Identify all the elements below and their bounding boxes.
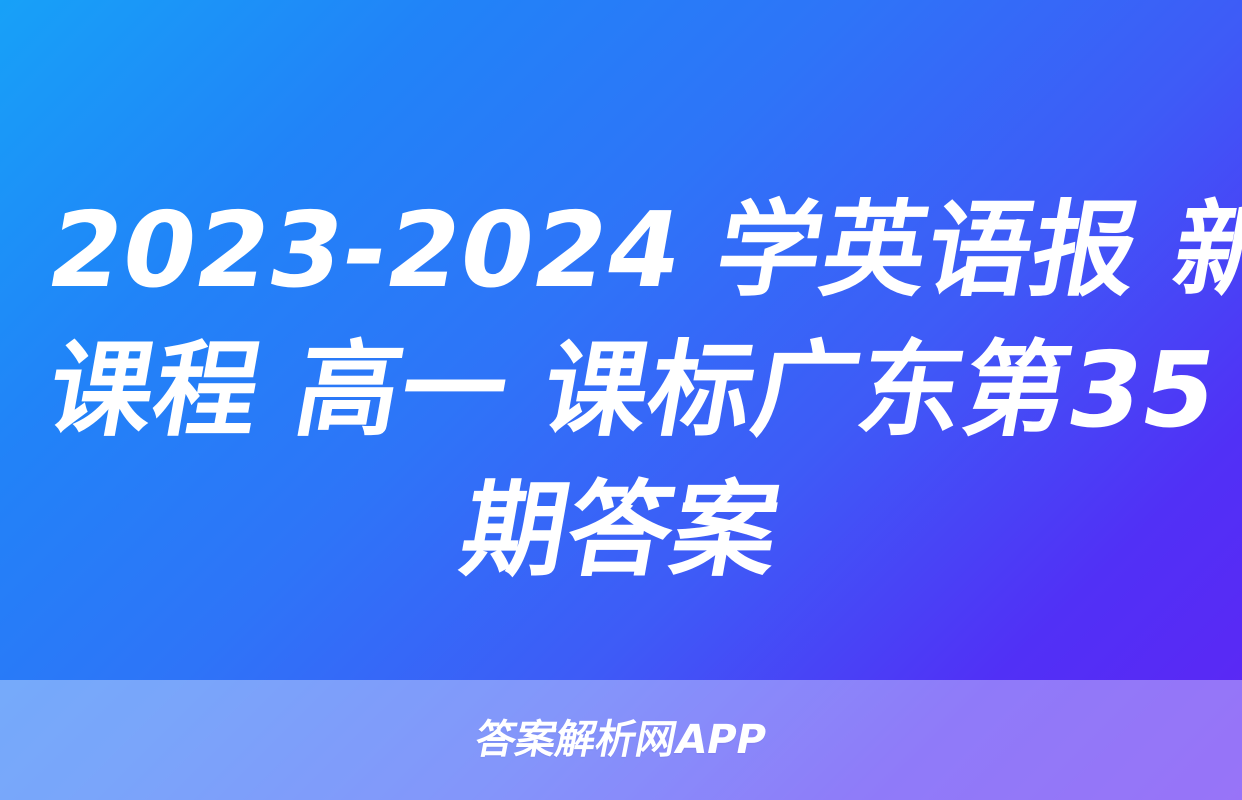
footer-watermark-bar: 答案解析网APP [0, 680, 1242, 800]
page-title: 2023-2024 学英语报 新 课程 高一 课标广东第35 期答案 [0, 180, 1242, 600]
app-watermark-label: 答案解析网APP [472, 720, 769, 760]
title-line-2: 课程 高一 课标广东第35 [38, 320, 1205, 460]
title-line-3: 期答案 [38, 460, 1205, 600]
poster-canvas: 2023-2024 学英语报 新 课程 高一 课标广东第35 期答案 答案解析网… [0, 0, 1242, 800]
title-line-1: 2023-2024 学英语报 新 [38, 180, 1205, 320]
